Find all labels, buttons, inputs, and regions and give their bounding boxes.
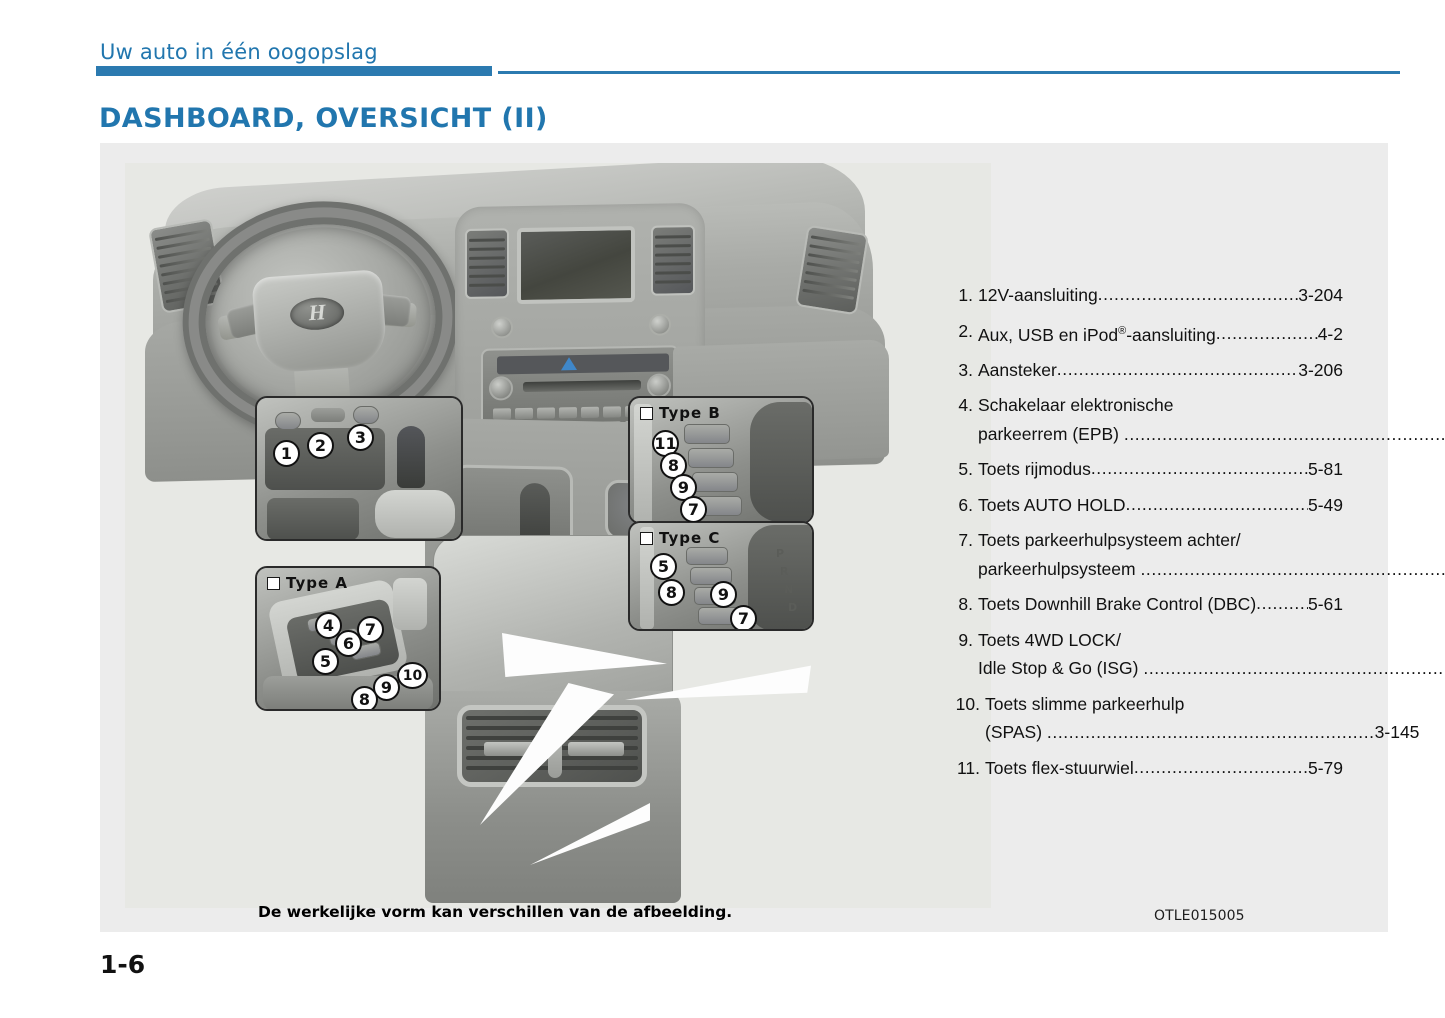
legend-leader-dots: ........................................… bbox=[1134, 753, 1308, 782]
callout-10: 10 bbox=[397, 662, 428, 689]
legend-item-text: Toets 4WD LOCK/ bbox=[978, 626, 1121, 655]
legend-item-number: 5. bbox=[953, 455, 973, 484]
figure-image: 1 2 3 Type B bbox=[125, 163, 991, 908]
legend-item-row: Toets rijmodus .........................… bbox=[978, 455, 1343, 484]
page-number: 1-6 bbox=[100, 950, 145, 979]
inset-type-a: Type A 4 5 6 7 8 9 10 bbox=[255, 566, 441, 711]
figure-code: OTLE015005 bbox=[1154, 908, 1245, 924]
legend-leader-dots: ........................................… bbox=[1057, 355, 1298, 384]
bullet-square-icon bbox=[640, 407, 653, 420]
inset-manual-shift: 1 2 3 bbox=[255, 396, 463, 541]
legend-item-text: Toets parkeerhulpsysteem achter/ bbox=[978, 526, 1241, 555]
center-vent-right-icon bbox=[651, 225, 695, 296]
hazard-warning-icon bbox=[561, 357, 577, 370]
inset-type-b-label: Type B bbox=[640, 404, 721, 422]
figure-caption: De werkelijke vorm kan verschillen van d… bbox=[258, 903, 732, 921]
manual-page: Uw auto in één oogopslag DASHBOARD, OVER… bbox=[0, 0, 1445, 1018]
running-header: Uw auto in één oogopslag bbox=[100, 40, 378, 64]
legend-item-text: 12V-aansluiting bbox=[978, 281, 1098, 310]
legend-item-text: Toets Downhill Brake Control (DBC) bbox=[978, 590, 1256, 619]
climate-knob-left bbox=[489, 376, 513, 400]
callout-5: 5 bbox=[650, 553, 677, 580]
inset-manual-shift-photo bbox=[257, 398, 461, 539]
callout-8: 8 bbox=[658, 579, 685, 606]
legend-leader-dots: ........................................… bbox=[1047, 722, 1375, 742]
header-rule-thin bbox=[498, 71, 1400, 74]
legend-item-body: Schakelaar elektronischeparkeerrem (EPB)… bbox=[978, 391, 1343, 448]
legend-item-body: Toets Downhill Brake Control (DBC) .....… bbox=[978, 590, 1343, 619]
legend-item: 9.Toets 4WD LOCK/Idle Stop & Go (ISG) ..… bbox=[953, 626, 1343, 683]
inset-type-b: Type B 11 8 9 7 bbox=[628, 396, 814, 524]
legend-page-reference: 3-206 bbox=[1298, 356, 1343, 385]
audio-knob-right bbox=[649, 313, 671, 335]
legend-item-number: 10. bbox=[953, 690, 980, 719]
rear-vent-wing-right bbox=[568, 742, 624, 756]
audio-knob-left bbox=[491, 316, 513, 338]
callout-3: 3 bbox=[347, 424, 374, 451]
legend-page-reference: 5-81 bbox=[1308, 455, 1343, 484]
legend-item-row: Toets slimme parkeerhulp bbox=[985, 690, 1343, 719]
legend-item-body: Toets parkeerhulpsysteem achter/parkeerh… bbox=[978, 526, 1343, 583]
callout-2: 2 bbox=[307, 432, 334, 459]
legend-item: 8.Toets Downhill Brake Control (DBC) ...… bbox=[953, 590, 1343, 619]
legend-item-body: Toets 4WD LOCK/Idle Stop & Go (ISG) ....… bbox=[978, 626, 1343, 683]
callout-5: 5 bbox=[312, 648, 339, 675]
callout-7: 7 bbox=[357, 616, 384, 643]
legend-page-reference: 5-61 bbox=[1308, 590, 1343, 619]
legend-item: 10.Toets slimme parkeerhulp(SPAS) ......… bbox=[953, 690, 1343, 747]
legend-item-text: Toets AUTO HOLD bbox=[978, 491, 1126, 520]
legend-item-number: 3. bbox=[953, 356, 973, 385]
legend-item: 2.Aux, USB en iPod®-aansluiting ........… bbox=[953, 317, 1343, 349]
legend-item-row: Toets parkeerhulpsysteem achter/ bbox=[978, 526, 1343, 555]
legend-item-body: Aux, USB en iPod®-aansluiting ..........… bbox=[978, 317, 1343, 349]
callout-7: 7 bbox=[680, 496, 707, 523]
legend-leader-dots: ........................................… bbox=[1124, 424, 1445, 444]
legend-list: 1.12V-aansluiting ......................… bbox=[953, 281, 1343, 789]
legend-page-reference: 3-145 bbox=[1375, 722, 1420, 742]
legend-page-reference: 5-49 bbox=[1308, 491, 1343, 520]
callout-9: 9 bbox=[373, 674, 400, 701]
legend-item-number: 7. bbox=[953, 526, 973, 555]
legend-item-text: Aansteker bbox=[978, 356, 1057, 385]
callout-7: 7 bbox=[730, 605, 757, 631]
legend-page-reference: 3-204 bbox=[1298, 281, 1343, 310]
legend-item-number: 2. bbox=[953, 317, 973, 346]
legend-item-text: Schakelaar elektronische bbox=[978, 391, 1174, 420]
legend-item-body: Toets rijmodus .........................… bbox=[978, 455, 1343, 484]
legend-item-number: 8. bbox=[953, 590, 973, 619]
legend-item-body: Aansteker...............................… bbox=[978, 356, 1343, 385]
legend-item-number: 1. bbox=[953, 281, 973, 310]
legend-item-row: Toets AUTO HOLD.........................… bbox=[978, 491, 1343, 520]
legend-item-body: Toets flex-stuurwiel....................… bbox=[985, 754, 1343, 783]
legend-leader-dots: ........................................… bbox=[1256, 589, 1308, 618]
legend-item-text: parkeerrem (EPB) bbox=[978, 424, 1124, 444]
legend-item-number: 4. bbox=[953, 391, 973, 420]
legend-item: 4.Schakelaar elektronischeparkeerrem (EP… bbox=[953, 391, 1343, 448]
legend-item: 7.Toets parkeerhulpsysteem achter/parkee… bbox=[953, 526, 1343, 583]
legend-item-text: Toets slimme parkeerhulp bbox=[985, 690, 1184, 719]
legend-leader-dots: ........................................… bbox=[1126, 490, 1308, 519]
legend-item: 3.Aansteker.............................… bbox=[953, 356, 1343, 385]
legend-item-row: Schakelaar elektronische bbox=[978, 391, 1343, 420]
legend-item-text: Toets rijmodus bbox=[978, 455, 1091, 484]
legend-item-number: 9. bbox=[953, 626, 973, 655]
header-rule-thick bbox=[96, 66, 492, 76]
inset-type-c: P R N D Type C 5 8 9 7 bbox=[628, 521, 814, 631]
climate-display bbox=[497, 353, 669, 374]
legend-item-row: Idle Stop & Go (ISG) ...................… bbox=[978, 654, 1343, 683]
dashboard-illustration: 1 2 3 Type B bbox=[125, 163, 991, 908]
legend-leader-dots: ........................................… bbox=[1091, 454, 1308, 483]
legend-item: 6.Toets AUTO HOLD.......................… bbox=[953, 491, 1343, 520]
legend-item-row: Aansteker...............................… bbox=[978, 356, 1343, 385]
inset-type-c-label: Type C bbox=[640, 529, 720, 547]
climate-slot bbox=[523, 380, 641, 392]
bullet-square-icon bbox=[640, 532, 653, 545]
legend-item-row: Toets flex-stuurwiel....................… bbox=[985, 754, 1343, 783]
legend-item-body: Toets slimme parkeerhulp(SPAS) .........… bbox=[985, 690, 1343, 747]
legend-item-text: (SPAS) bbox=[985, 722, 1047, 742]
legend-item-row: Aux, USB en iPod®-aansluiting ..........… bbox=[978, 317, 1343, 349]
legend-item-text: parkeerhulpsysteem bbox=[978, 559, 1140, 579]
legend-item-text: Aux, USB en iPod®-aansluiting bbox=[978, 317, 1216, 349]
legend-item: 1.12V-aansluiting ......................… bbox=[953, 281, 1343, 310]
legend-page-reference: 5-79 bbox=[1308, 754, 1343, 783]
legend-item-row: 12V-aansluiting ........................… bbox=[978, 281, 1343, 310]
legend-leader-dots: ........................................… bbox=[1140, 559, 1445, 579]
inset-type-a-label: Type A bbox=[267, 574, 348, 592]
legend-item: 11.Toets flex-stuurwiel.................… bbox=[953, 754, 1343, 783]
legend-item-number: 11. bbox=[953, 754, 980, 783]
callout-1: 1 bbox=[273, 440, 300, 467]
legend-item-row: Toets Downhill Brake Control (DBC) .....… bbox=[978, 590, 1343, 619]
legend-leader-dots: ........................................… bbox=[1216, 319, 1318, 348]
center-vent-left-icon bbox=[465, 228, 509, 299]
legend-item-text: Toets flex-stuurwiel bbox=[985, 754, 1134, 783]
legend-item-body: Toets AUTO HOLD.........................… bbox=[978, 491, 1343, 520]
climate-knob-right bbox=[647, 373, 671, 397]
legend-item-text: Idle Stop & Go (ISG) bbox=[978, 658, 1143, 678]
legend-item-number: 6. bbox=[953, 491, 973, 520]
legend-item-row: parkeerhulpsysteem .....................… bbox=[978, 555, 1343, 584]
legend-leader-dots: ........................................… bbox=[1143, 658, 1445, 678]
legend-leader-dots: ........................................… bbox=[1098, 280, 1299, 309]
legend-item-row: Toets 4WD LOCK/ bbox=[978, 626, 1343, 655]
legend-item-row: (SPAS) .................................… bbox=[985, 718, 1343, 747]
infotainment-screen bbox=[517, 226, 635, 304]
legend-item-body: 12V-aansluiting ........................… bbox=[978, 281, 1343, 310]
right-air-vent-icon bbox=[795, 225, 869, 316]
legend-page-reference: 4-2 bbox=[1318, 320, 1343, 349]
legend-item: 5.Toets rijmodus .......................… bbox=[953, 455, 1343, 484]
legend-item-row: parkeerrem (EPB) .......................… bbox=[978, 420, 1343, 449]
registered-trademark-icon: ® bbox=[1118, 325, 1126, 337]
page-title: DASHBOARD, OVERSICHT (II) bbox=[99, 103, 548, 134]
bullet-square-icon bbox=[267, 577, 280, 590]
callout-9: 9 bbox=[710, 581, 737, 608]
